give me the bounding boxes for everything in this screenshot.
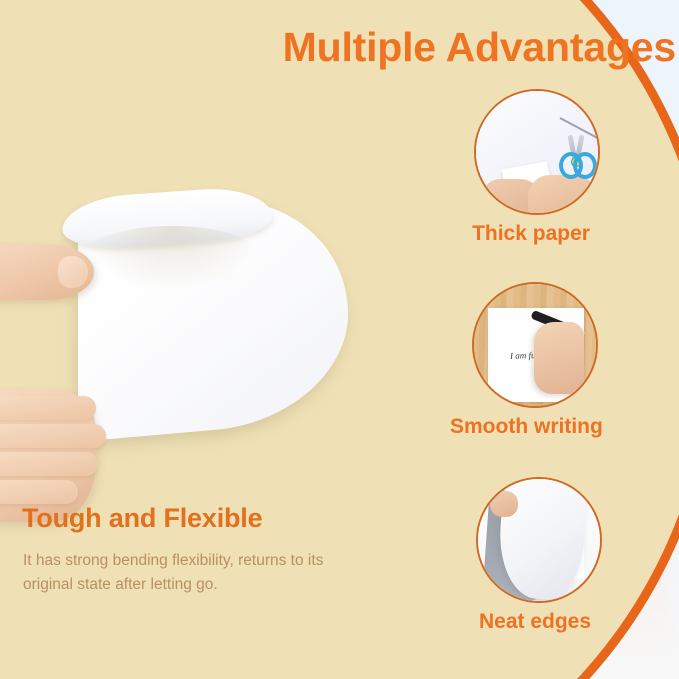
page-title: Multiple Advantages xyxy=(268,24,676,71)
feature-thumbnail xyxy=(474,89,600,215)
feature-label: Thick paper xyxy=(462,222,600,246)
feature-smooth-writing: I am fun, and Smooth writing xyxy=(472,282,603,439)
scissors-icon xyxy=(558,135,592,179)
feature-thumbnail: I am fun, and xyxy=(472,282,598,408)
feature-thumbnail xyxy=(476,477,602,603)
product-infographic: Multiple Advantages Tough and Flexible I… xyxy=(0,0,679,679)
finger xyxy=(0,480,78,504)
flexible-paper-photo xyxy=(0,140,370,470)
finger xyxy=(0,396,96,420)
thumb xyxy=(0,244,94,300)
finger xyxy=(0,424,106,448)
feature-label: Neat edges xyxy=(468,610,602,634)
circle2-writing-hand xyxy=(534,322,584,394)
paper-shadow xyxy=(82,226,262,290)
left-body-text: It has strong bending flexibility, retur… xyxy=(23,549,353,596)
feature-label: Smooth writing xyxy=(450,415,603,439)
left-heading: Tough and Flexible xyxy=(22,503,262,534)
feature-thick-paper: Thick paper xyxy=(474,89,600,246)
finger xyxy=(0,452,98,476)
circle1-right-hand xyxy=(528,175,594,215)
thumbnail xyxy=(58,256,88,288)
circle3-thumb xyxy=(490,491,518,517)
feature-neat-edges: Neat edges xyxy=(476,477,602,634)
scissors-handle xyxy=(573,152,597,179)
